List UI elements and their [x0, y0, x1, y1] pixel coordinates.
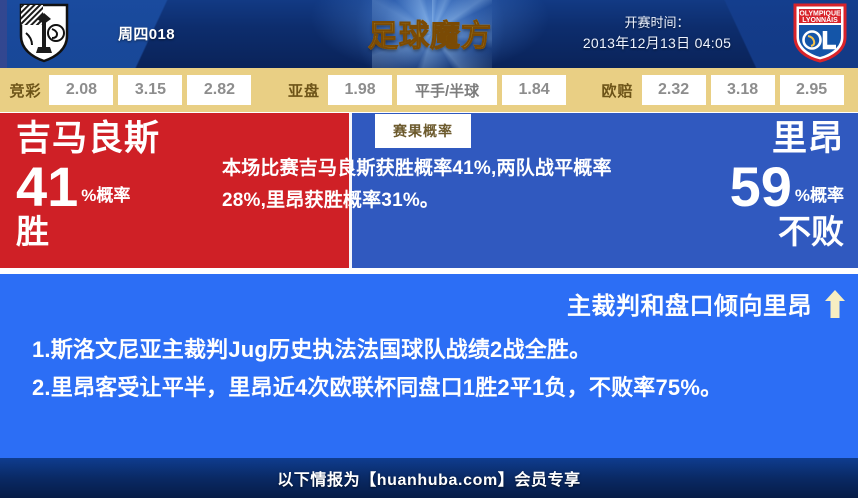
round-label: 周四018: [118, 23, 175, 44]
brand-logo-text: 足球魔方: [368, 11, 492, 55]
olympique-lyonnais-crest: OLYMPIQUE LYONNAIS: [792, 3, 848, 63]
odds-cell-jingcai-home[interactable]: 2.08: [49, 75, 113, 105]
odds-group-title: 欧赔: [602, 80, 634, 101]
footer-bar: 以下情报为【huanhuba.com】会员专享: [0, 458, 858, 498]
probability-section: 吉马良斯 41 %概率 胜 里昂 59 %概率 不败 赛果概率 本场比赛吉马良斯…: [0, 113, 858, 268]
odds-cell-yapan-handicap[interactable]: 平手/半球: [397, 75, 497, 105]
home-probability-block: 吉马良斯 41 %概率 胜: [16, 121, 160, 248]
trend-headline: 主裁判和盘口倾向里昂: [567, 286, 812, 321]
away-result-label: 不败: [730, 215, 844, 248]
vitoria-guimaraes-crest: [18, 3, 70, 63]
away-percent-unit: %概率: [795, 187, 844, 204]
kickoff-label: 开赛时间：: [542, 12, 772, 33]
trend-headline-row: 主裁判和盘口倾向里昂: [567, 286, 846, 321]
odds-group-jingcai: 竞彩 2.08 3.15 2.82: [9, 75, 256, 105]
header-bar: 周四018 足球魔方 开赛时间： 2013年12月13日 04:05 OLYMP…: [0, 0, 858, 68]
match-preview-card: 周四018 足球魔方 开赛时间： 2013年12月13日 04:05 OLYMP…: [0, 0, 858, 498]
trend-item-1: 1.斯洛文尼亚主裁判Jug历史执法法国球队战绩2战全胜。: [32, 331, 832, 369]
home-percent-unit: %概率: [81, 187, 130, 204]
probability-summary: 本场比赛吉马良斯获胜概率41%,两队战平概率28%,里昂获胜概率31%。: [222, 153, 622, 217]
arrow-up-icon: [824, 289, 846, 319]
odds-cell-jingcai-away[interactable]: 2.82: [187, 75, 251, 105]
odds-cell-yapan-home[interactable]: 1.98: [328, 75, 392, 105]
away-percent-value: 59: [730, 160, 792, 213]
odds-cell-oupei-home[interactable]: 2.32: [642, 75, 706, 105]
brand-logo: 足球魔方: [362, 9, 498, 57]
away-team-name: 里昂: [730, 121, 844, 156]
home-result-label: 胜: [16, 215, 160, 248]
odds-cell-oupei-draw[interactable]: 3.18: [711, 75, 775, 105]
odds-cell-jingcai-draw[interactable]: 3.15: [118, 75, 182, 105]
odds-bar: 竞彩 2.08 3.15 2.82 亚盘 1.98 平手/半球 1.84 欧赔 …: [0, 68, 858, 112]
odds-group-title: 亚盘: [288, 80, 320, 101]
trend-items: 1.斯洛文尼亚主裁判Jug历史执法法国球队战绩2战全胜。 2.里昂客受让平半，里…: [32, 331, 832, 407]
odds-group-yapan: 亚盘 1.98 平手/半球 1.84: [288, 75, 571, 105]
home-percent-line: 41 %概率: [16, 160, 160, 213]
svg-text:LYONNAIS: LYONNAIS: [802, 17, 838, 24]
odds-cell-yapan-away[interactable]: 1.84: [502, 75, 566, 105]
kickoff-time: 开赛时间： 2013年12月13日 04:05: [542, 12, 772, 54]
probability-chip: 赛果概率: [375, 114, 471, 148]
odds-group-title: 竞彩: [9, 80, 41, 101]
trend-item-2: 2.里昂客受让平半，里昂近4次欧联杯同盘口1胜2平1负，不败率75%。: [32, 369, 832, 407]
home-team-name: 吉马良斯: [16, 121, 160, 156]
odds-group-oupei: 欧赔 2.32 3.18 2.95: [602, 75, 849, 105]
odds-cell-oupei-away[interactable]: 2.95: [780, 75, 844, 105]
away-percent-line: 59 %概率: [730, 160, 844, 213]
home-percent-value: 41: [16, 160, 78, 213]
trend-section: 主裁判和盘口倾向里昂 1.斯洛文尼亚主裁判Jug历史执法法国球队战绩2战全胜。 …: [0, 274, 858, 458]
away-probability-block: 里昂 59 %概率 不败: [730, 121, 844, 248]
kickoff-value: 2013年12月13日 04:05: [542, 33, 772, 54]
footer-text: 以下情报为【huanhuba.com】会员专享: [277, 466, 581, 490]
